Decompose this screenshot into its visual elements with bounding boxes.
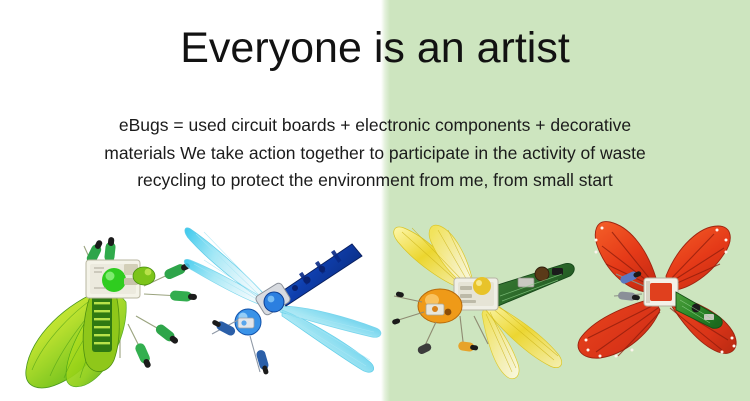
dragonfly-tail (278, 244, 362, 306)
insect-gallery (0, 196, 750, 401)
body-line-1: eBugs = used circuit boards + electronic… (0, 112, 750, 140)
bee-led (473, 277, 491, 295)
ebug-bee (382, 224, 582, 384)
page-title: Everyone is an artist (0, 23, 750, 73)
body-paragraph: eBugs = used circuit boards + electronic… (0, 112, 750, 195)
ebug-dragonfly (186, 210, 386, 390)
ebugs-poster: Everyone is an artist eBugs = used circu… (0, 0, 750, 401)
body-line-2: materials We take action together to par… (0, 140, 750, 168)
ebug-butterfly (572, 220, 750, 390)
butterfly-circuit-board (644, 278, 678, 306)
cicada-circuit-board (86, 260, 155, 298)
body-line-3: recycling to protect the environment fro… (0, 167, 750, 195)
bee-pcb-abdomen (488, 263, 574, 306)
bee-head (418, 289, 462, 323)
